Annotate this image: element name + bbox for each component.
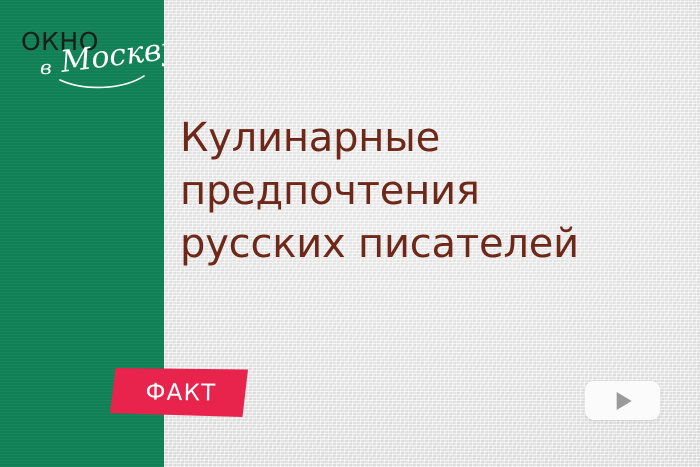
page-title-line-1: Кулинарные [180,112,680,165]
logo-preposition-v: в [40,55,52,79]
play-button[interactable] [585,381,660,420]
video-preview-card: ОКНО в Москву Кулинарные предпочтения ру… [0,0,700,467]
status-badge: ФАКТ [110,368,248,417]
page-title-line-3: русских писателей [180,218,680,271]
page-title: Кулинарные предпочтения русских писателе… [180,112,680,271]
status-badge-label: ФАКТ [110,379,248,407]
brand-logo[interactable]: ОКНО в Москву [18,22,164,92]
brand-logo-artwork: ОКНО в Москву [18,22,164,92]
play-icon [616,392,631,410]
page-title-line-2: предпочтения [180,165,680,218]
